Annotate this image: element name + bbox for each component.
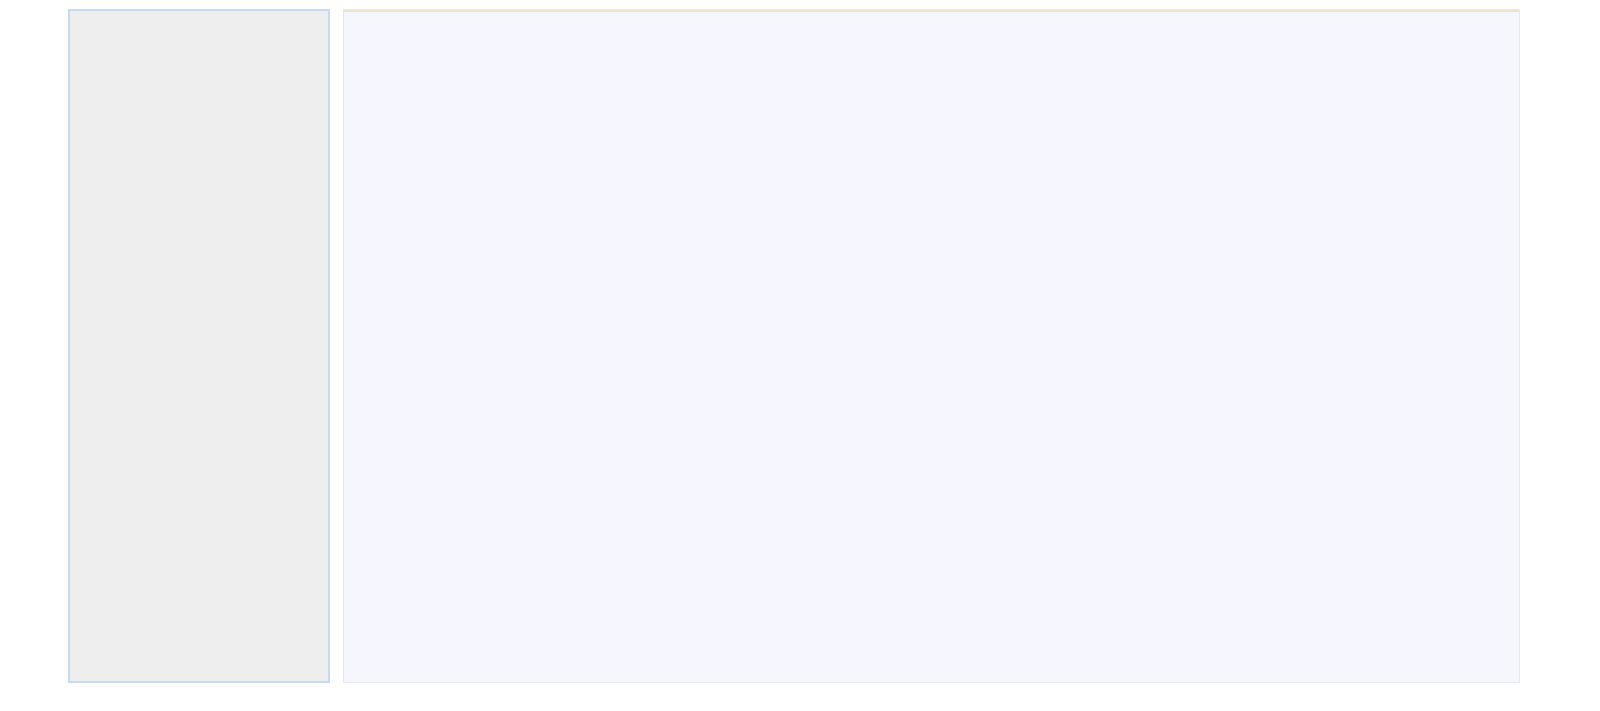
graph-nodes — [344, 10, 1520, 683]
model-graph-panel — [343, 9, 1520, 683]
diagram-canvas — [0, 0, 1600, 711]
interpreter-core-block — [68, 9, 330, 683]
